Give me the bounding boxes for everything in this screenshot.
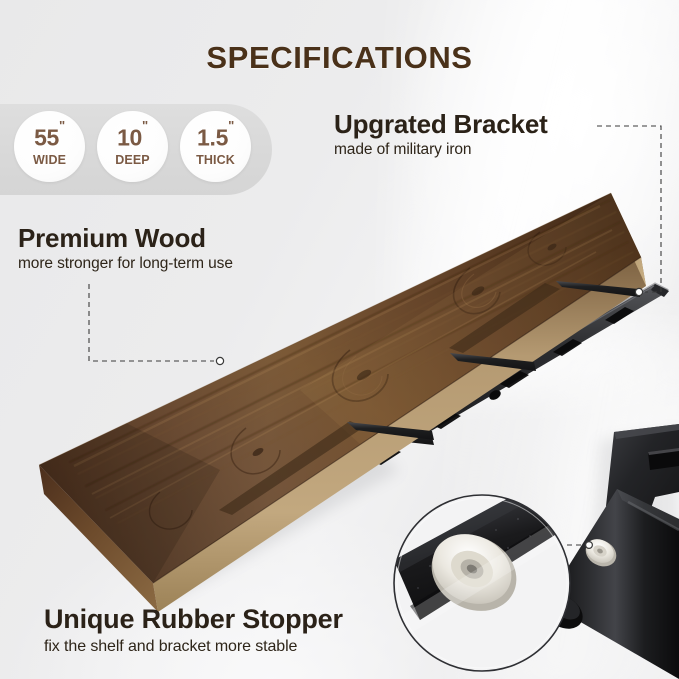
spec-badge-deep-value: 10" bbox=[117, 126, 148, 150]
callout-wood-title: Premium Wood bbox=[18, 224, 233, 252]
spec-badge-wide-value: 55" bbox=[34, 126, 65, 150]
callout-bracket: Upgrated Bracket made of military iron bbox=[334, 110, 548, 160]
spec-badge-deep: 10" DEEP bbox=[97, 111, 168, 182]
callout-stopper: Unique Rubber Stopper fix the shelf and … bbox=[44, 605, 343, 656]
leader-wood bbox=[89, 284, 214, 361]
spec-badge-deep-label: DEEP bbox=[115, 154, 149, 167]
product-illustration bbox=[0, 0, 679, 679]
spec-badge-thick: 1.5" THICK bbox=[180, 111, 251, 182]
magnifier-inset bbox=[394, 470, 585, 671]
spec-badge-thick-label: THICK bbox=[196, 154, 235, 167]
product-specification-image: SPECIFICATIONS 55" WIDE 10" DEEP 1.5" TH… bbox=[0, 0, 679, 679]
callout-wood-subtitle: more stronger for long-term use bbox=[18, 255, 233, 274]
callout-stopper-subtitle: fix the shelf and bracket more stable bbox=[44, 637, 343, 656]
callout-wood: Premium Wood more stronger for long-term… bbox=[18, 224, 233, 274]
spec-badge-group: 55" WIDE 10" DEEP 1.5" THICK bbox=[14, 111, 251, 182]
callout-bracket-subtitle: made of military iron bbox=[334, 141, 548, 160]
spec-badge-thick-value: 1.5" bbox=[197, 126, 234, 150]
callout-stopper-title: Unique Rubber Stopper bbox=[44, 605, 343, 634]
page-title: SPECIFICATIONS bbox=[0, 40, 679, 76]
spec-badge-wide: 55" WIDE bbox=[14, 111, 85, 182]
callout-bracket-title: Upgrated Bracket bbox=[334, 110, 548, 138]
spec-badge-wide-label: WIDE bbox=[33, 154, 66, 167]
